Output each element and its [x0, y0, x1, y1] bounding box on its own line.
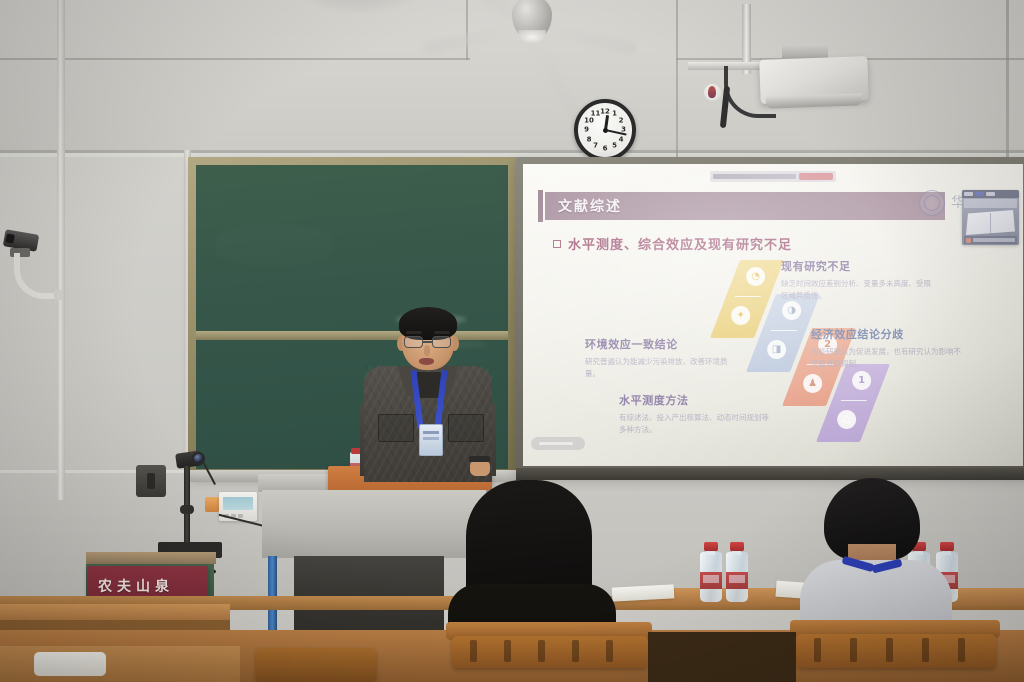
clock-numeral: 11: [591, 111, 601, 118]
chair-slat: [538, 640, 545, 662]
ceiling-seam-left: [0, 58, 470, 60]
wall-seam-vert-right: [676, 0, 678, 158]
bottle-cap-icon: [704, 542, 718, 551]
bullet-square-icon: [553, 240, 561, 248]
text-block-economic: 经济效应结论分歧 有些研究认为促进发展，也有研究认为影响不显著或其抑制。: [811, 326, 961, 371]
bottle-cap-icon: [730, 542, 744, 551]
clock-numeral: 7: [593, 143, 598, 150]
chair-slat: [470, 640, 477, 662]
presenter-eyebrow-left: [406, 331, 422, 334]
chalkboard-divider-rail: [196, 331, 508, 340]
title-accent-bar: [538, 190, 543, 222]
clock-numeral: 10: [584, 117, 594, 124]
chair-back-center[interactable]: [256, 648, 376, 682]
block-body: 有综述法、投入产出核算法、动态时间规划等多种方法。: [619, 412, 769, 437]
bottle-label: [726, 572, 748, 589]
card-top-icon: ◔: [746, 267, 765, 286]
slide-watermark: [531, 437, 585, 450]
clock-center-pin: [603, 128, 608, 133]
clock-numeral: 5: [612, 143, 617, 150]
text-block-gap: 现有研究不足 缺乏时间效应差别分析、变量多未高度、受限区域异质性。: [781, 258, 931, 303]
clock-numeral: 8: [587, 136, 592, 143]
pip-status-dot-icon: [966, 238, 971, 243]
eyeglasses-lens-right: [432, 336, 451, 348]
card-divider: [841, 400, 867, 401]
slide-bullet-text: 水平测度、综合效应及现有研究不足: [568, 234, 792, 253]
bottle-label: [700, 572, 722, 589]
pip-footer[interactable]: [964, 236, 1017, 244]
presenter-hand: [470, 460, 490, 476]
control-panel-display: [223, 497, 253, 510]
block-body: 缺乏时间效应差别分析、变量多未高度、受限区域异质性。: [781, 278, 931, 303]
pip-footer-label: [973, 238, 1015, 242]
slide-bullet-row: 水平测度、综合效应及现有研究不足: [553, 234, 792, 253]
pip-close-icon[interactable]: [986, 192, 995, 196]
wall-speaker: [136, 465, 166, 497]
wall-sticker-icon: [704, 84, 721, 101]
projection-screen[interactable]: 文献综述 华 水平测度、综合效应及现有研究不足: [523, 164, 1023, 466]
desk-left-edge: [0, 620, 230, 630]
wall-corner-right: [1006, 0, 1009, 160]
slide-title-bar: 文献综述: [545, 192, 945, 220]
camera-lens: [5, 233, 14, 243]
eyeglasses-lens-left: [404, 336, 423, 348]
camera-lens-icon: [192, 452, 205, 465]
toolbar-controls-icon[interactable]: [713, 174, 796, 179]
presentation-toolbar[interactable]: [710, 171, 836, 182]
clock-numeral: 4: [619, 136, 624, 143]
pip-video-feed: [966, 210, 1015, 235]
slide-title: 文献综述: [558, 196, 622, 216]
card-divider: [735, 296, 761, 297]
block-heading: 水平测度方法: [619, 392, 769, 408]
card-divider: [771, 330, 797, 331]
chair-slat: [850, 638, 857, 662]
record-button[interactable]: [799, 173, 833, 180]
chalk-smudge: [214, 225, 334, 265]
chair-slat: [572, 640, 579, 662]
chair-slat: [922, 638, 929, 662]
power-outlet[interactable]: [205, 497, 219, 512]
chair-slat: [814, 638, 821, 662]
clock-face: 12 1 2 3 4 5 6 7 8 9 10 11: [580, 105, 630, 155]
pip-info-row: [964, 199, 1017, 208]
tripod-adjust-knob[interactable]: [180, 505, 194, 514]
control-button[interactable]: [238, 514, 243, 518]
video-conference-thumbnail[interactable]: [962, 190, 1019, 245]
clock-numeral: 6: [603, 145, 608, 152]
card-bottom-icon: ◨: [767, 340, 786, 359]
card-top-icon: ◑: [782, 301, 801, 320]
wall-pipe-left: [57, 0, 65, 500]
presenter-nose: [424, 345, 430, 356]
ceiling-fan: [430, 0, 630, 66]
chair-slat: [958, 638, 965, 662]
presenter-eyebrow-right: [434, 331, 450, 334]
pip-minimize-icon[interactable]: [964, 192, 973, 196]
podium-body: ★★★★: [262, 490, 486, 558]
name-badge: [419, 424, 443, 456]
carton-box-lid: [86, 552, 216, 564]
card-bottom-icon: ♟: [803, 374, 822, 393]
projection-screen-bottom-bar: [516, 468, 1024, 480]
card-top-icon: 1: [852, 371, 871, 390]
clock-numeral: 1: [612, 111, 617, 118]
chair-shadow-gap: [648, 632, 796, 682]
chair-slat: [504, 640, 511, 662]
card-bottom-icon: ✦: [731, 306, 750, 325]
presenter-mouth: [419, 358, 434, 365]
pip-maximize-icon[interactable]: [975, 192, 984, 196]
university-seal-icon: [919, 190, 945, 216]
clock-numeral: 12: [600, 108, 610, 115]
block-body: 研究普遍认为能减少污染排放、改善环境质量。: [585, 356, 735, 381]
block-heading: 现有研究不足: [781, 258, 931, 274]
pip-titlebar[interactable]: [962, 190, 1019, 198]
classroom-scene: 12 1 2 3 4 5 6 7 8 9 10 11: [0, 0, 1024, 682]
clock-numeral: 2: [619, 117, 624, 124]
chair-slat: [606, 640, 613, 662]
block-body: 有些研究认为促进发展，也有研究认为影响不显著或其抑制。: [811, 346, 961, 371]
wristwatch: [469, 456, 490, 462]
conduit-clip: [54, 290, 63, 300]
shirt-pocket-left: [378, 414, 414, 442]
chair-slat: [886, 638, 893, 662]
box-brand-cn: 农夫山泉: [98, 576, 174, 596]
eyeglasses-bridge: [423, 341, 432, 343]
block-heading: 经济效应结论分歧: [811, 326, 961, 342]
chair-back-right[interactable]: [796, 634, 996, 668]
text-block-method: 水平测度方法 有综述法、投入产出核算法、动态时间规划等多种方法。: [619, 392, 769, 437]
text-block-environment: 环境效应一致结论 研究普遍认为能减少污染排放、改善环境质量。: [585, 336, 735, 381]
chair-back-left[interactable]: [452, 636, 648, 668]
wall-clock: 12 1 2 3 4 5 6 7 8 9 10 11: [574, 99, 636, 161]
block-heading: 环境效应一致结论: [585, 336, 735, 352]
cloth-on-desk: [34, 652, 106, 676]
card-bottom-icon: ⌂: [837, 410, 856, 429]
bottle-cap-icon: [940, 542, 954, 551]
clock-numeral: 9: [584, 127, 589, 134]
presentation-slide[interactable]: 文献综述 华 水平测度、综合效应及现有研究不足: [523, 164, 1023, 466]
shirt-pocket-right: [448, 414, 484, 442]
